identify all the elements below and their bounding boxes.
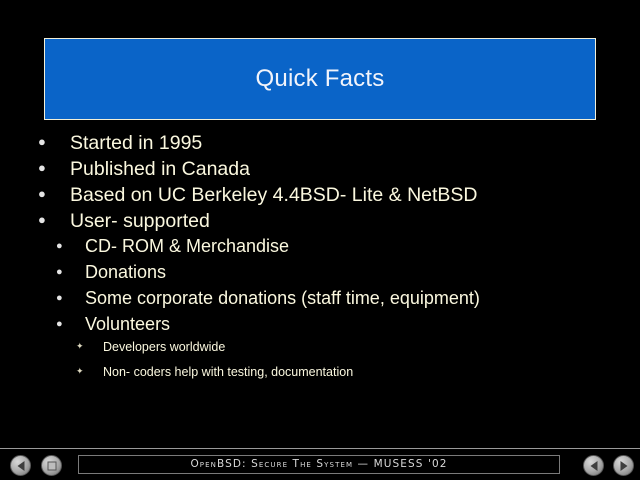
nav-previous-button-left[interactable] [10, 455, 31, 476]
footer-caption-text: OpenBSD: Secure The System — MUSESS '02 [190, 459, 447, 470]
slide-title-banner: Quick Facts [44, 38, 596, 120]
bullet-item-level-1: ●Published in Canada [0, 158, 640, 184]
bullet-disc-icon: ● [38, 161, 70, 174]
bullet-disc-icon: ● [38, 135, 70, 148]
triangle-left-icon [590, 461, 597, 471]
bullet-item-label: CD- ROM & Merchandise [85, 236, 289, 257]
bullet-item-label: Started in 1995 [70, 132, 202, 155]
nav-previous-button-right[interactable] [583, 455, 604, 476]
square-icon [47, 461, 56, 470]
bullet-item-label: Published in Canada [70, 158, 250, 181]
bullet-item-level-2: ●CD- ROM & Merchandise [0, 236, 640, 262]
bullet-item-level-1: ●User- supported [0, 210, 640, 236]
page-title: Quick Facts [256, 67, 385, 91]
bullet-item-level-3: ✦Non- coders help with testing, document… [0, 365, 640, 390]
bullet-disc-icon: ● [38, 213, 70, 226]
bullet-item-level-2: ●Volunteers [0, 314, 640, 340]
bullet-item-level-1: ●Started in 1995 [0, 132, 640, 158]
bullet-diamond-icon: ✦ [76, 342, 103, 351]
triangle-right-icon [620, 461, 627, 471]
bullet-disc-small-icon: ● [56, 319, 85, 330]
bullet-diamond-icon: ✦ [76, 367, 103, 376]
bullet-item-label: Based on UC Berkeley 4.4BSD- Lite & NetB… [70, 184, 478, 207]
bullet-item-level-2: ●Donations [0, 262, 640, 288]
bullet-item-label: Developers worldwide [103, 340, 225, 354]
bullet-disc-small-icon: ● [56, 241, 85, 252]
bullet-disc-small-icon: ● [56, 267, 85, 278]
slide-body-bullet-list: ●Started in 1995●Published in Canada●Bas… [0, 132, 640, 390]
nav-next-button[interactable] [613, 455, 634, 476]
bullet-item-label: Non- coders help with testing, documenta… [103, 365, 353, 379]
triangle-left-icon [17, 461, 24, 471]
slide-canvas: Quick Facts ●Started in 1995●Published i… [0, 0, 640, 480]
bullet-item-level-3: ✦Developers worldwide [0, 340, 640, 365]
bullet-item-label: Some corporate donations (staff time, eq… [85, 288, 480, 309]
bullet-item-label: Volunteers [85, 314, 170, 335]
nav-index-button[interactable] [41, 455, 62, 476]
footer-caption-box: OpenBSD: Secure The System — MUSESS '02 [78, 455, 560, 474]
bullet-disc-icon: ● [38, 187, 70, 200]
bullet-item-level-2: ●Some corporate donations (staff time, e… [0, 288, 640, 314]
bullet-disc-small-icon: ● [56, 293, 85, 304]
footer-divider [0, 448, 640, 449]
bullet-item-label: Donations [85, 262, 166, 283]
bullet-item-level-1: ●Based on UC Berkeley 4.4BSD- Lite & Net… [0, 184, 640, 210]
bullet-item-label: User- supported [70, 210, 210, 233]
